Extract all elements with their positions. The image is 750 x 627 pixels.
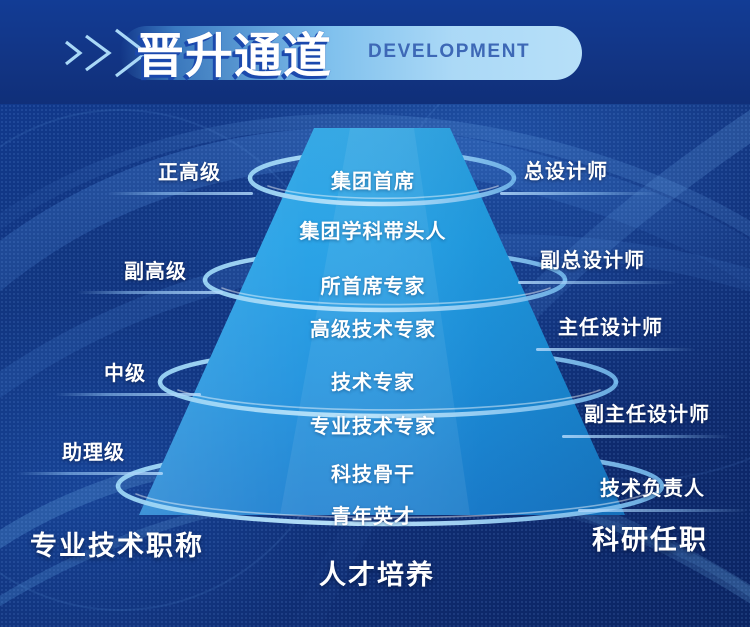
center-footer-label: 人才培养 <box>319 553 435 592</box>
center-item-0: 集团首席 <box>331 165 415 194</box>
right-item-2: 主任设计师 <box>558 311 663 340</box>
right-item-1: 副总设计师 <box>540 244 645 273</box>
right-divider-4 <box>578 509 746 512</box>
left-item-3: 助理级 <box>62 436 125 465</box>
right-divider-3 <box>562 435 730 438</box>
header: 晋升通道 DEVELOPMENT <box>0 0 750 104</box>
center-item-1: 集团学科带头人 <box>300 215 447 244</box>
promotion-channel-poster: 晋升通道 DEVELOPMENT 正高级 副高级 中级 助理级 专业技术职称 集… <box>0 0 750 627</box>
left-footer-label: 专业技术职称 <box>30 524 204 563</box>
left-item-2: 中级 <box>104 357 146 386</box>
left-divider-1 <box>78 291 223 294</box>
left-divider-2 <box>56 393 201 396</box>
center-item-6: 科技骨干 <box>331 458 415 487</box>
page-title: 晋升通道 <box>136 16 332 86</box>
left-divider-0 <box>108 192 253 195</box>
right-divider-2 <box>536 348 694 351</box>
center-item-5: 专业技术专家 <box>310 410 436 439</box>
center-item-4: 技术专家 <box>331 366 415 395</box>
page-subtitle: DEVELOPMENT <box>368 41 530 63</box>
right-divider-1 <box>518 281 676 284</box>
left-divider-3 <box>18 472 163 475</box>
right-item-3: 副主任设计师 <box>584 398 710 427</box>
right-item-4: 技术负责人 <box>600 472 705 501</box>
left-item-1: 副高级 <box>124 255 187 284</box>
left-item-0: 正高级 <box>158 156 221 185</box>
center-item-3: 高级技术专家 <box>310 313 436 342</box>
right-footer-label: 科研任职 <box>592 518 708 557</box>
right-item-0: 总设计师 <box>524 155 608 184</box>
center-item-7: 青年英才 <box>331 500 415 529</box>
center-item-2: 所首席专家 <box>321 270 426 299</box>
right-divider-0 <box>500 192 658 195</box>
